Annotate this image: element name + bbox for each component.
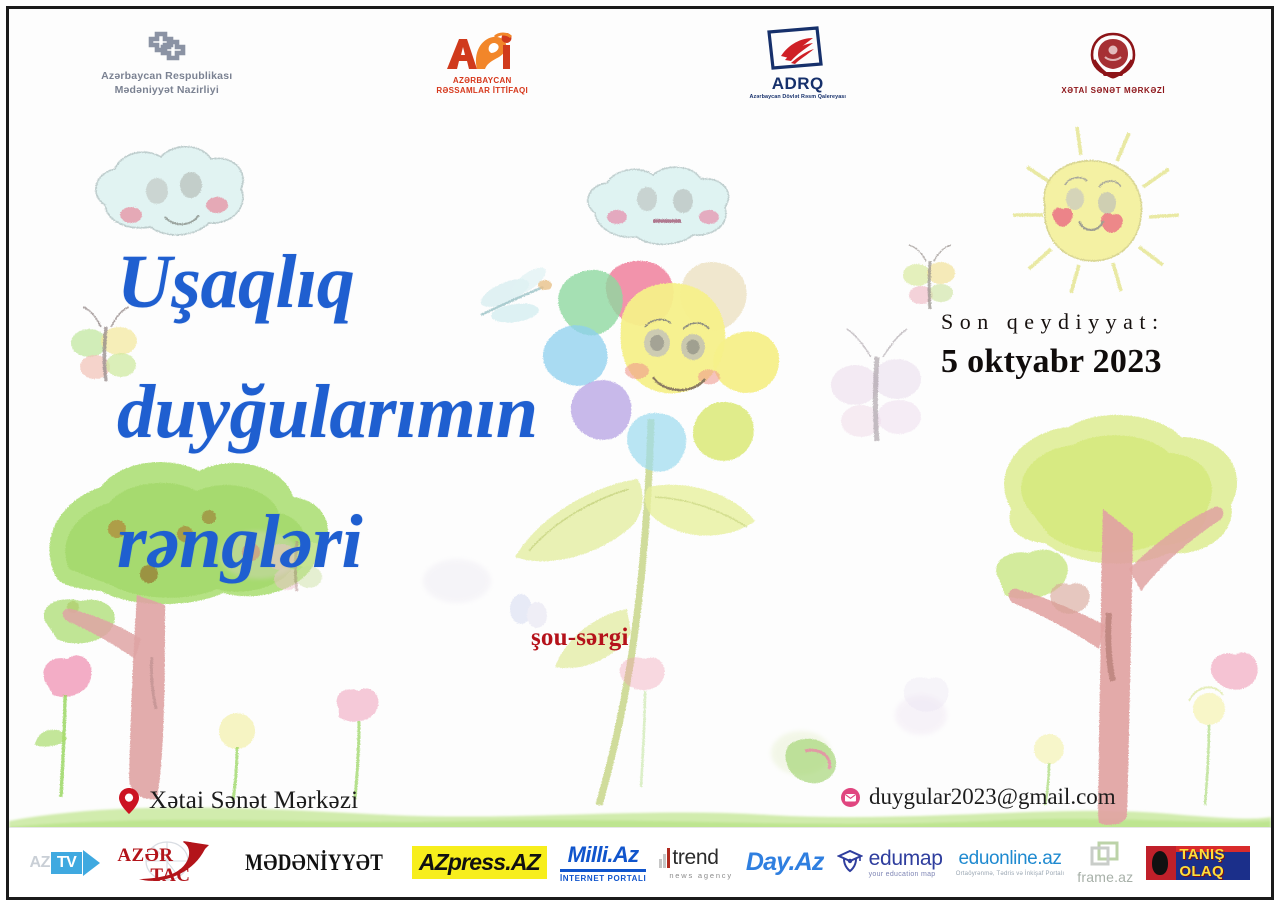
butterfly-top-right [903, 245, 955, 309]
graduation-cap-icon [837, 847, 863, 878]
media-partner-tanis-olaq[interactable]: TANIŞ OLAQ [1146, 840, 1250, 886]
organizer-xetai-art-center: XƏTAİ SƏNƏT MƏRKƏZİ [956, 30, 1272, 96]
registration-deadline: Son qeydiyyat: 5 oktyabr 2023 [941, 309, 1165, 381]
eduonline-tagline: Ortaöyrənmə, Tədris və İnkişaf Portalı [956, 871, 1065, 877]
venue-name: Xətai Sənət Mərkəzi [149, 787, 358, 815]
trend-wordmark: trend [672, 846, 718, 870]
media-partner-medeniyyet[interactable]: MƏDƏNİYYƏT [230, 840, 398, 886]
poster-title-line2: duyğularımın [117, 371, 538, 453]
butterfly-right [831, 329, 921, 441]
tulip-right [1211, 652, 1258, 689]
azpress-wordmark: AZpress.AZ [419, 849, 540, 876]
contact-email[interactable]: duygular2023@gmail.com [869, 784, 1116, 810]
deadline-date: 5 oktyabr 2023 [941, 343, 1165, 381]
media-partner-azertac[interactable]: AZƏR TAC [113, 840, 217, 886]
poster-title-line1: Uşaqlıq [117, 241, 538, 323]
media-partner-frame-az[interactable]: frame.az [1077, 840, 1133, 886]
trend-tagline: news agency [669, 871, 733, 880]
organizer-ministry-line1: Azərbaycan Respublikası [101, 70, 232, 83]
tanis-olaq-silhouette-icon [1152, 851, 1168, 875]
aztv-tv-text: TV [51, 852, 82, 874]
smiling-cloud-center [588, 167, 729, 244]
organizer-adrq: ADRQ Azərbaycan Dövlət Rəsm Qalereyası [640, 26, 956, 100]
ari-logo-icon [443, 31, 521, 73]
media-partner-day-az[interactable]: Day.Az [746, 840, 824, 886]
milli-az-underline [560, 869, 646, 872]
edumap-wordmark: edumap [869, 847, 943, 871]
tanis-olaq-wordmark: TANIŞ OLAQ [1179, 846, 1250, 880]
frame-squares-icon [1090, 841, 1120, 867]
organizer-adrq-subtitle: Azərbaycan Dövlət Rəsm Qalereyası [750, 94, 847, 100]
azertac-tac-text: TAC [150, 865, 190, 887]
media-partner-trend[interactable]: trend news agency [659, 840, 733, 886]
tree-right [996, 415, 1237, 825]
medeniyyet-wordmark: MƏDƏNİYYƏT [246, 850, 384, 876]
media-partner-aztv[interactable]: AZ TV [30, 840, 101, 886]
venue-info: Xətai Sənət Mərkəzi [119, 787, 358, 815]
organizer-artists-union-caption: AZƏRBAYCAN RƏSSAMLAR İTTİFAQI [436, 76, 528, 96]
media-partners-strip: AZ TV AZƏR TAC MƏDƏN [9, 827, 1271, 897]
smiling-cloud-left [96, 147, 243, 235]
organizer-ministry-caption: Azərbaycan Respublikası Mədəniyyət Nazir… [101, 70, 232, 96]
location-pin-icon [119, 788, 139, 814]
organizer-logo-row: Azərbaycan Respublikası Mədəniyyət Nazir… [9, 9, 1271, 117]
poster-root: Azərbaycan Respublikası Mədəniyyət Nazir… [0, 0, 1280, 906]
flowers-bottom [620, 657, 949, 787]
aztv-triangle-icon [83, 850, 100, 876]
poster-title-line3: rəngləri [117, 501, 538, 583]
azertac-azer-text: AZƏR [117, 845, 173, 867]
azerbaijan-knot-logo-icon [144, 29, 190, 63]
media-partner-milli-az[interactable]: Milli.Az İNTERNET PORTALI [560, 840, 646, 886]
central-smiling-flower [515, 261, 779, 805]
smiling-sun-right [1013, 127, 1179, 293]
organizer-ministry-line2: Mədəniyyət Nazirliyi [101, 84, 232, 97]
contact-info[interactable]: duygular2023@gmail.com [841, 784, 1116, 810]
eduonline-wordmark: eduonline.az [959, 848, 1062, 870]
media-partner-azpress[interactable]: AZpress.AZ [412, 840, 547, 886]
organizer-artists-union-line1: AZƏRBAYCAN [436, 76, 528, 86]
organizer-artists-union-line2: RƏSSAMLAR İTTİFAQI [436, 86, 528, 96]
media-partner-edumap[interactable]: edumap your education map [837, 840, 943, 886]
milli-az-wordmark: Milli.Az [568, 842, 639, 868]
envelope-icon [841, 788, 860, 807]
milli-az-tagline: İNTERNET PORTALI [560, 874, 646, 883]
poster-subtitle: şou-sərgi [531, 624, 629, 652]
edumap-tagline: your education map [869, 871, 943, 878]
organizer-adrq-acronym: ADRQ [772, 75, 824, 92]
day-az-wordmark: Day.Az [746, 848, 824, 877]
trend-bars-icon [659, 848, 670, 868]
tulips-left [35, 655, 378, 801]
butterfly-small-center [510, 594, 547, 628]
media-partner-eduonline[interactable]: eduonline.az Ortaöyrənmə, Tədris və İnki… [956, 840, 1065, 886]
organizer-ministry-of-culture: Azərbaycan Respublikası Mədəniyyət Nazir… [9, 29, 325, 96]
deadline-label: Son qeydiyyat: [941, 309, 1165, 335]
organizer-xetai-caption: XƏTAİ SƏNƏT MƏRKƏZİ [1061, 86, 1165, 96]
xetai-crest-logo-icon [1086, 30, 1140, 82]
aztv-az-text: AZ [30, 854, 50, 872]
poster-canvas: Azərbaycan Respublikası Mədəniyyət Nazir… [9, 9, 1271, 897]
adrq-logo-icon [755, 26, 841, 74]
poster-title: Uşaqlıq duyğularımın rəngləri [117, 241, 538, 583]
frame-az-wordmark: frame.az [1077, 869, 1133, 885]
organizer-artists-union: AZƏRBAYCAN RƏSSAMLAR İTTİFAQI [325, 31, 641, 96]
